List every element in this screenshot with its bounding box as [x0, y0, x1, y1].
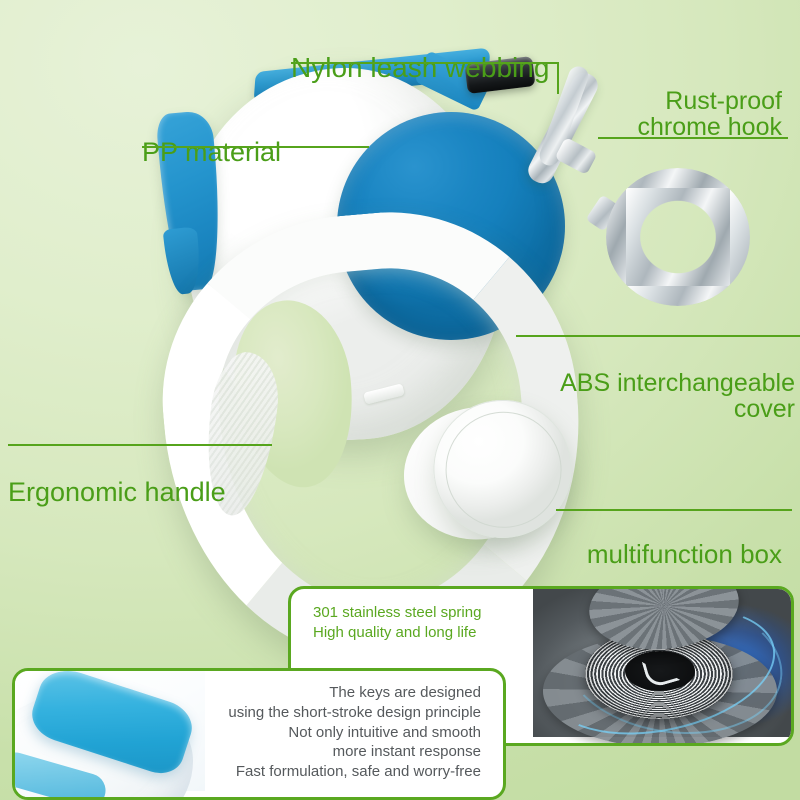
- leader-line-nylon-horizontal: [291, 62, 559, 64]
- leader-line-chrome-hook: [598, 137, 788, 139]
- callout-rust-proof-chrome-hook-label: Rust-proof chrome hook: [637, 88, 782, 140]
- callout-pp-material: PP material: [142, 110, 281, 194]
- callout-ergonomic-handle-label: Ergonomic handle: [8, 478, 226, 506]
- spring-mechanism-photo: [533, 589, 791, 737]
- leader-line-multifunction-box: [556, 509, 792, 511]
- leader-line-abs-cover: [516, 335, 800, 337]
- callout-rust-proof-chrome-hook: Rust-proof chrome hook: [637, 62, 782, 166]
- callout-nylon-leash-webbing: Nylon leash webbing: [291, 24, 549, 111]
- spring-panel-text: 301 stainless steel spring High quality …: [313, 603, 481, 643]
- leader-line-nylon-vertical: [557, 62, 559, 94]
- callout-ergonomic-handle: Ergonomic handle: [8, 450, 226, 534]
- multifunction-box: [395, 389, 582, 559]
- leader-line-pp-material: [142, 146, 369, 148]
- leader-line-ergonomic-handle: [8, 444, 272, 446]
- callout-abs-interchangeable-cover-label: ABS interchangeable cover: [560, 370, 795, 422]
- feature-panel-keys: The keys are designed using the short-st…: [12, 668, 506, 800]
- callout-abs-interchangeable-cover: ABS interchangeable cover: [560, 344, 795, 448]
- hook-ring: [606, 168, 750, 306]
- infographic-canvas: Nylon leash webbing PP material Rust-pro…: [0, 0, 800, 800]
- callout-nylon-leash-webbing-label: Nylon leash webbing: [291, 53, 549, 82]
- callout-multifunction-box: multifunction box: [587, 514, 782, 595]
- callout-multifunction-box-label: multifunction box: [587, 541, 782, 568]
- callout-pp-material-label: PP material: [142, 138, 281, 166]
- keys-panel-text: The keys are designed using the short-st…: [85, 683, 481, 782]
